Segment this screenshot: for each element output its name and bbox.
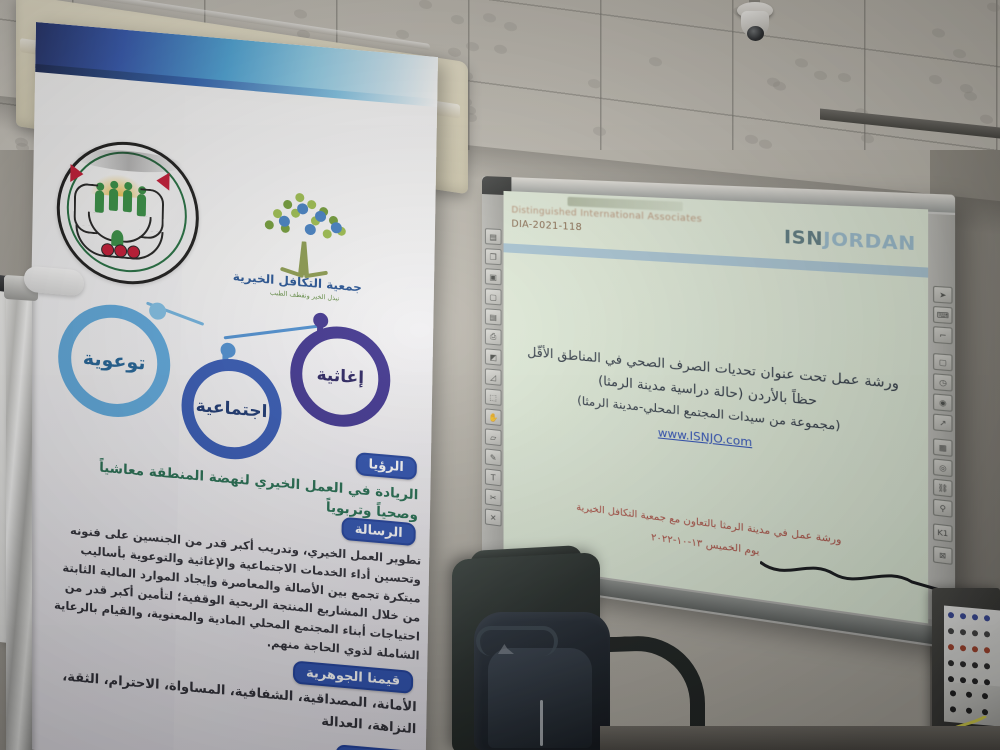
pen-icon[interactable]: ✎: [485, 448, 502, 466]
banner-stand-pole: [6, 290, 32, 750]
scissors-icon[interactable]: ✂: [485, 488, 502, 506]
room-photo-scene: جمعية التكافل الخيرية نبذل الخير ونقطف ا…: [0, 0, 1000, 750]
tag-vision: الرؤيا: [355, 452, 417, 480]
diagram-node-1: [149, 302, 166, 320]
circle-social: اجتماعية: [181, 355, 283, 464]
select-icon[interactable]: ⬚: [485, 388, 502, 406]
capture-icon[interactable]: ◩: [485, 348, 502, 366]
power-cable: [760, 556, 940, 594]
diagram-node-2: [220, 342, 235, 358]
print-icon[interactable]: ⎙: [485, 328, 502, 345]
backpack-strap: [476, 626, 558, 656]
frame-icon[interactable]: ⌐: [933, 326, 953, 344]
hand-icon[interactable]: ✋: [485, 408, 502, 426]
save-icon[interactable]: ▤: [485, 308, 502, 325]
slide-header-line2: DIA-2021-118: [511, 218, 582, 233]
page-icon[interactable]: ▢: [933, 353, 953, 371]
board-left-toolbar[interactable]: ▤ ❐ ▣ ▢ ▤ ⎙ ◩ ◿ ⬚ ✋ ▱ ✎ T ✂ ✕: [482, 194, 504, 559]
pointer-icon[interactable]: ➤: [933, 286, 953, 304]
k1-icon[interactable]: K1: [933, 523, 953, 542]
magnify-icon[interactable]: ⚲: [933, 499, 953, 518]
floor-strip: [600, 726, 1000, 750]
text-icon[interactable]: T: [485, 468, 502, 486]
dome-security-camera-icon: [735, 2, 775, 48]
arrow-icon[interactable]: ↗: [933, 413, 953, 432]
ministry-logo-icon: [56, 136, 200, 290]
diagram-node-3: [313, 312, 328, 328]
grid-icon[interactable]: ▦: [933, 438, 953, 457]
stamp-icon[interactable]: ◉: [933, 393, 953, 412]
isn-logo-primary: ISN: [784, 227, 823, 251]
tag-goals: الأهداف: [335, 744, 412, 750]
shapes-icon[interactable]: ◿: [485, 368, 502, 386]
new-page-icon[interactable]: ❐: [485, 248, 502, 265]
interactive-whiteboard[interactable]: ▤ ❐ ▣ ▢ ▤ ⎙ ◩ ◿ ⬚ ✋ ▱ ✎ T ✂ ✕ ➤ ⌨ ⌐ ▢: [482, 176, 914, 580]
society-logo-icon: جمعية التكافل الخيرية نبذل الخير ونقطف ا…: [245, 186, 365, 314]
record-icon[interactable]: ◎: [933, 458, 953, 477]
duplicate-page-icon[interactable]: ▣: [485, 268, 502, 285]
rollup-banner: جمعية التكافل الخيرية نبذل الخير ونقطف ا…: [36, 22, 438, 750]
isn-logo-secondary: JORDAN: [823, 229, 916, 256]
link-icon[interactable]: ⛓: [933, 478, 953, 497]
keyboard-icon[interactable]: ⌨: [933, 306, 953, 324]
eraser-icon[interactable]: ▱: [485, 428, 502, 446]
blank-page-icon[interactable]: ▢: [485, 288, 502, 305]
isn-jordan-logo: ISNJORDAN: [784, 227, 916, 256]
close-icon[interactable]: ✕: [485, 508, 502, 526]
circle-relief: إغاثية: [289, 322, 391, 431]
pages-icon[interactable]: ▤: [485, 228, 502, 245]
backpack-zipper: [540, 700, 543, 746]
clock-icon[interactable]: ◷: [933, 373, 953, 391]
